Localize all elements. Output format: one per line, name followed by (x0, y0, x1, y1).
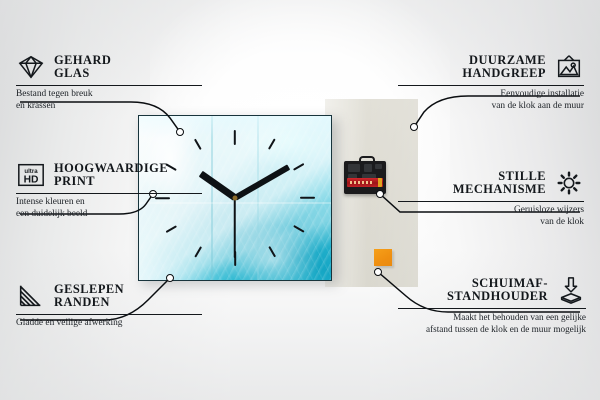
connector-node-schuimaf-standhouder (374, 268, 382, 276)
battery-label (350, 181, 374, 184)
feature-description: Intense kleuren en een duidelijk beeld (16, 197, 202, 220)
mechanism-detail (348, 164, 360, 172)
feature-stille-mechanisme: STILLE MECHANISME Geruisloze wijzers van… (398, 168, 584, 228)
ultra-hd-icon: ultra HD (16, 160, 46, 190)
beveled-edge-icon (16, 281, 46, 311)
feature-title: GEHARD (54, 54, 111, 67)
foam-spacer-pad (374, 249, 392, 266)
diamond-icon (16, 52, 46, 82)
feature-title-line2: HANDGREEP (462, 67, 546, 80)
feature-divider (398, 85, 584, 86)
feature-title-line2: PRINT (54, 175, 168, 188)
feature-title: STILLE (453, 170, 546, 183)
connector-node-gehard-glas (176, 128, 184, 136)
feature-hoogwaardige-print: ultra HD HOOGWAARDIGE PRINT Intense kleu… (16, 160, 202, 220)
feature-divider (16, 85, 202, 86)
feature-title: SCHUIMAF- (447, 277, 548, 290)
battery-positive-tip (378, 178, 382, 187)
feature-description: Gladde en veilige afwerking (16, 318, 202, 329)
press-down-pad-icon (556, 275, 586, 305)
feature-divider (398, 308, 586, 309)
feature-title-line2: GLAS (54, 67, 111, 80)
connector-node-duurzame-handgreep (410, 123, 418, 131)
feature-divider (16, 314, 202, 315)
feature-title-line2: STANDHOUDER (447, 290, 548, 303)
feature-title-line2: MECHANISME (453, 183, 546, 196)
ultra-hd-icon-big-label: HD (24, 175, 39, 186)
connector-node-stille-mechanisme (376, 190, 384, 198)
feature-duurzame-handgreep: DUURZAME HANDGREEP Eenvoudige installati… (398, 52, 584, 112)
feature-description: Bestand tegen breuk en krassen (16, 89, 202, 112)
mechanism-detail (364, 164, 372, 172)
clock-mechanism (344, 156, 386, 194)
mechanism-detail (375, 164, 382, 169)
feature-divider (398, 201, 584, 202)
feature-title: DUURZAME (462, 54, 546, 67)
picture-frame-hanging-icon (554, 52, 584, 82)
feature-description: Eenvoudige installatie van de klok aan d… (398, 89, 584, 112)
clock-second-hand (234, 198, 236, 258)
feature-title-line2: RANDEN (54, 296, 124, 309)
feature-schuimaf-standhouder: SCHUIMAF- STANDHOUDER Maakt het behouden… (398, 275, 586, 335)
feature-divider (16, 193, 202, 194)
infographic-canvas: GEHARD GLAS Bestand tegen breuk en krass… (0, 0, 600, 400)
feature-title: GESLEPEN (54, 283, 124, 296)
gear-icon (554, 168, 584, 198)
feature-title: HOOGWAARDIGE (54, 162, 168, 175)
feature-gehard-glas: GEHARD GLAS Bestand tegen breuk en krass… (16, 52, 202, 112)
feature-description: Geruisloze wijzers van de klok (398, 205, 584, 228)
clock-center-hub (233, 196, 238, 201)
feature-description: Maakt het behouden van een gelijke afsta… (398, 312, 586, 335)
feature-geslepen-randen: GESLEPEN RANDEN Gladde en veilige afwerk… (16, 281, 202, 330)
